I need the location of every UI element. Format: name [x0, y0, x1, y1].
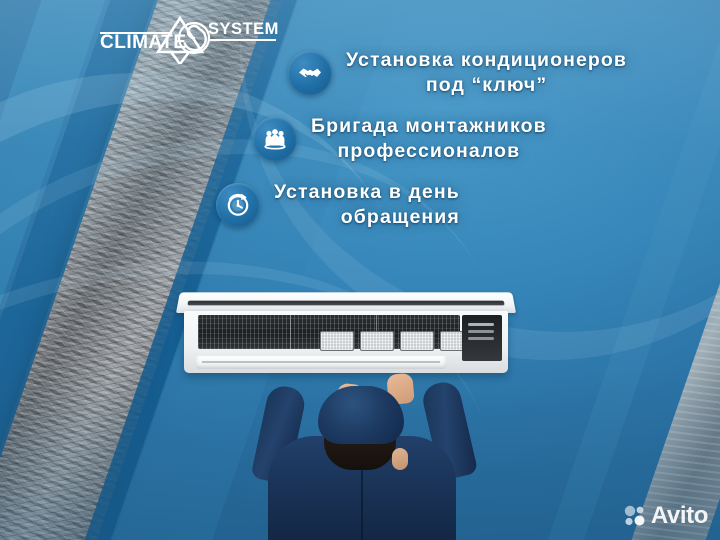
fast-clock-icon: [216, 183, 260, 227]
feature-line-1: Бригада монтажников: [311, 114, 547, 139]
feature-item-professional-crew[interactable]: Бригада монтажников профессионалов: [0, 114, 720, 164]
handshake-icon: [288, 51, 332, 95]
ac-filter-panel: [320, 331, 354, 351]
feature-line-1: Установка кондиционеров: [346, 48, 627, 73]
feature-line-2: под “ключ”: [346, 73, 627, 98]
feature-line-2: обращения: [274, 205, 460, 230]
feature-item-same-day-installation[interactable]: Установка в день обращения: [0, 180, 720, 230]
ac-filter-panel: [360, 331, 394, 351]
avito-watermark: Avito: [624, 502, 708, 530]
feature-text: Бригада монтажников профессионалов: [311, 114, 547, 164]
technician-ear: [392, 448, 408, 470]
feature-text: Установка кондиционеров под “ключ”: [346, 48, 627, 98]
feature-line-2: профессионалов: [311, 139, 547, 164]
avito-label: Avito: [651, 502, 708, 530]
feature-line-1: Установка в день: [274, 180, 460, 205]
avito-dots-icon: [624, 505, 646, 527]
ac-filter-panel: [400, 331, 434, 351]
feature-list: Установка кондиционеров под “ключ” Брига…: [0, 48, 720, 246]
hvac-technician: [238, 352, 486, 540]
technician-cap: [318, 386, 404, 444]
logo-word-systems: SYSTEMS: [208, 20, 278, 38]
feature-item-turnkey-installation[interactable]: Установка кондиционеров под “ключ”: [0, 48, 720, 98]
feature-text: Установка в день обращения: [274, 180, 460, 230]
banner-canvas: CLIMATE SYSTEMS Установка кондиционеров …: [0, 0, 720, 540]
group-people-icon: [253, 117, 297, 161]
ac-open-front-panel: [176, 292, 516, 313]
